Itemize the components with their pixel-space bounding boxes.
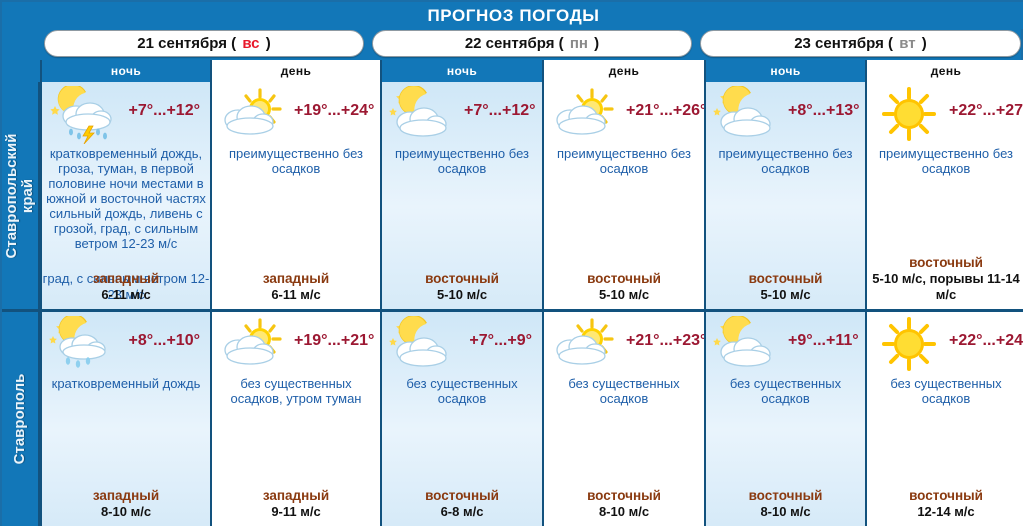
temperature-0-2: +7°...+12° <box>464 102 542 120</box>
forecast-cell-0-0[interactable]: +7°...+12° кратковременный дождь, гроза,… <box>40 82 210 309</box>
temperature-1-5: +22°...+24° <box>949 332 1023 350</box>
temperature-0-1: +19°...+24° <box>294 102 380 120</box>
temperature-0-0: +7°...+12° <box>124 102 206 120</box>
sun-cloud-icon <box>216 86 294 144</box>
icon-temp-0-5: +22°...+27° <box>867 82 1023 144</box>
period-header-day-1: день <box>542 60 704 82</box>
date-pill-2[interactable]: 23 сентября ( вт ) <box>700 30 1021 57</box>
wind-speed-0-3: 5-10 м/с <box>544 287 704 303</box>
icon-temp-1-3: +21°...+23° <box>544 312 704 374</box>
forecast-cell-0-1[interactable]: +19°...+24° преимущественно без осадков … <box>210 82 380 309</box>
temperature-1-4: +9°...+11° <box>788 332 865 350</box>
period-header-night-1: ночь <box>380 60 542 82</box>
temperature-1-3: +21°...+23° <box>626 332 704 350</box>
wind-block-1-0: западный 8-10 м/с <box>42 488 210 520</box>
temperature-1-0: +8°...+10° <box>124 332 206 350</box>
phenomenon-0-0: кратковременный дождь, гроза, туман, в п… <box>42 144 210 251</box>
wind-block-0-1: западный 6-11 м/с <box>212 271 380 303</box>
sun-cloud-icon <box>548 86 626 144</box>
forecast-grid: Ставропольский край <box>2 82 1023 526</box>
period-header-night-2: ночь <box>704 60 865 82</box>
forecast-cell-0-2[interactable]: +7°...+12° преимущественно без осадков в… <box>380 82 542 309</box>
city-row-0: Ставропольский край <box>2 82 1023 309</box>
date-paren-open-0: ( <box>227 35 240 52</box>
wind-direction-1-1: западный <box>212 488 380 504</box>
wind-direction-1-0: западный <box>42 488 210 504</box>
period-header-night-0: ночь <box>40 60 210 82</box>
wind-speed-0-2: 5-10 м/с <box>382 287 542 303</box>
date-paren-close-2: ) <box>918 35 927 52</box>
phenomenon-0-5: преимущественно без осадков <box>867 144 1023 176</box>
wind-speed-1-4: 8-10 м/с <box>706 504 865 520</box>
wind-speed-1-0: 8-10 м/с <box>42 504 210 520</box>
forecast-cell-1-1[interactable]: +19°...+21° без существенных осадков, ут… <box>210 312 380 526</box>
icon-temp-1-0: +8°...+10° <box>42 312 210 374</box>
wind-direction-1-4: восточный <box>706 488 865 504</box>
date-paren-open-2: ( <box>884 35 897 52</box>
forecast-cell-1-2[interactable]: +7°...+9° без существенных осадков восто… <box>380 312 542 526</box>
wind-speed-0-1: 6-11 м/с <box>212 287 380 303</box>
wind-block-1-5: восточный 12-14 м/с <box>867 488 1023 520</box>
icon-temp-0-2: +7°...+12° <box>382 82 542 144</box>
moon-cloud-icon <box>710 316 788 374</box>
wind-block-0-4: восточный 5-10 м/с <box>706 271 865 303</box>
wind-direction-0-0: западный <box>42 271 210 287</box>
wind-block-1-4: восточный 8-10 м/с <box>706 488 865 520</box>
wind-direction-0-5: восточный <box>867 255 1023 271</box>
date-paren-close-0: ) <box>262 35 271 52</box>
forecast-cell-1-0[interactable]: +8°...+10° кратковременный дождь западны… <box>40 312 210 526</box>
wind-speed-1-2: 6-8 м/с <box>382 504 542 520</box>
temperature-1-2: +7°...+9° <box>464 332 538 350</box>
wind-speed-1-1: 9-11 м/с <box>212 504 380 520</box>
icon-temp-0-3: +21°...+26° <box>544 82 704 144</box>
city-name-line1-0: Ставропольский <box>3 133 20 258</box>
weather-forecast-widget: ПРОГНОЗ ПОГОДЫ 21 сентября ( вс ) 22 сен… <box>0 0 1023 526</box>
wind-speed-0-0: 6-11 м/с <box>42 287 210 303</box>
moon-cloud-icon <box>386 316 464 374</box>
dates-row: 21 сентября ( вс ) 22 сентября ( пн ) 23… <box>2 29 1023 60</box>
wind-direction-1-5: восточный <box>867 488 1023 504</box>
temperature-0-4: +8°...+13° <box>788 102 865 120</box>
wind-block-0-5: восточный 5-10 м/с, порывы 11-14 м/с <box>867 255 1023 303</box>
wind-direction-0-4: восточный <box>706 271 865 287</box>
day-of-week-1: пн <box>570 35 588 52</box>
wind-direction-1-2: восточный <box>382 488 542 504</box>
temperature-0-5: +22°...+27° <box>949 102 1023 120</box>
page-title: ПРОГНОЗ ПОГОДЫ <box>427 6 599 26</box>
icon-temp-0-1: +19°...+24° <box>212 82 380 144</box>
city-name-0: Ставропольский край <box>4 133 36 258</box>
forecast-cell-0-5[interactable]: +22°...+27° преимущественно без осадков … <box>865 82 1023 309</box>
temperature-1-1: +19°...+21° <box>294 332 380 350</box>
icon-temp-0-4: +8°...+13° <box>706 82 865 144</box>
day-of-week-2: вт <box>899 35 915 52</box>
wind-direction-0-2: восточный <box>382 271 542 287</box>
city-row-1: Ставрополь <box>2 309 1023 526</box>
icon-temp-1-2: +7°...+9° <box>382 312 542 374</box>
date-pill-1[interactable]: 22 сентября ( пн ) <box>372 30 692 57</box>
moon-cloud-rain-icon <box>46 316 124 374</box>
wind-speed-0-5: 5-10 м/с, порывы 11-14 м/с <box>867 271 1023 303</box>
wind-direction-0-3: восточный <box>544 271 704 287</box>
phenomenon-0-3: преимущественно без осадков <box>544 144 704 176</box>
icon-temp-0-0: +7°...+12° <box>42 82 210 144</box>
wind-direction-1-3: восточный <box>544 488 704 504</box>
date-label-1: 22 сентября <box>465 35 555 52</box>
forecast-cell-1-5[interactable]: +22°...+24° без существенных осадков вос… <box>865 312 1023 526</box>
day-of-week-0: вс <box>242 35 259 52</box>
city-label-1: Ставрополь <box>2 312 40 526</box>
wind-block-0-3: восточный 5-10 м/с <box>544 271 704 303</box>
period-header-row: ночь день ночь день ночь день <box>2 60 1023 82</box>
phenomenon-0-4: преимущественно без осадков <box>706 144 865 176</box>
date-label-2: 23 сентября <box>794 35 884 52</box>
dates-row-spacer <box>2 29 40 60</box>
wind-block-0-2: восточный 5-10 м/с <box>382 271 542 303</box>
moon-cloud-rain-thunder-icon <box>46 86 124 144</box>
phenomenon-1-3: без существенных осадков <box>544 374 704 406</box>
city-name-line2-0: край <box>19 178 36 212</box>
phenomenon-1-5: без существенных осадков <box>867 374 1023 406</box>
phenomenon-0-1: преимущественно без осадков <box>212 144 380 176</box>
sun-cloud-icon <box>548 316 626 374</box>
icon-temp-1-5: +22°...+24° <box>867 312 1023 374</box>
date-paren-close-1: ) <box>590 35 599 52</box>
wind-speed-1-3: 8-10 м/с <box>544 504 704 520</box>
city-name-1: Ставрополь <box>12 374 28 465</box>
moon-cloud-icon <box>710 86 788 144</box>
phenomenon-1-1: без существенных осадков, утром туман <box>212 374 380 406</box>
city-label-0: Ставропольский край <box>2 82 40 309</box>
forecast-cell-1-3[interactable]: +21°...+23° без существенных осадков вос… <box>542 312 704 526</box>
phenomenon-1-2: без существенных осадков <box>382 374 542 406</box>
forecast-cell-0-4[interactable]: +8°...+13° преимущественно без осадков в… <box>704 82 865 309</box>
period-header-day-0: день <box>210 60 380 82</box>
date-pill-0[interactable]: 21 сентября ( вс ) <box>44 30 364 57</box>
phenomenon-1-0: кратковременный дождь <box>42 374 210 391</box>
icon-temp-1-4: +9°...+11° <box>706 312 865 374</box>
wind-block-1-3: восточный 8-10 м/с <box>544 488 704 520</box>
temperature-0-3: +21°...+26° <box>626 102 704 120</box>
wind-block-1-2: восточный 6-8 м/с <box>382 488 542 520</box>
moon-cloud-icon <box>386 86 464 144</box>
wind-block-0-0: западный 6-11 м/с <box>42 271 210 303</box>
phenomenon-1-4: без существенных осадков <box>706 374 865 406</box>
wind-speed-0-4: 5-10 м/с <box>706 287 865 303</box>
title-bar: ПРОГНОЗ ПОГОДЫ <box>2 2 1023 29</box>
phenomenon-0-2: преимущественно без осадков <box>382 144 542 176</box>
wind-direction-0-1: западный <box>212 271 380 287</box>
date-paren-open-1: ( <box>555 35 568 52</box>
period-header-day-2: день <box>865 60 1023 82</box>
forecast-cell-1-4[interactable]: +9°...+11° без существенных осадков вост… <box>704 312 865 526</box>
forecast-cell-0-3[interactable]: +21°...+26° преимущественно без осадков … <box>542 82 704 309</box>
date-label-0: 21 сентября <box>137 35 227 52</box>
period-header-spacer <box>2 60 40 82</box>
wind-block-1-1: западный 9-11 м/с <box>212 488 380 520</box>
sun-cloud-icon <box>216 316 294 374</box>
icon-temp-1-1: +19°...+21° <box>212 312 380 374</box>
wind-speed-1-5: 12-14 м/с <box>867 504 1023 520</box>
sun-icon <box>871 86 949 144</box>
sun-icon <box>871 316 949 374</box>
